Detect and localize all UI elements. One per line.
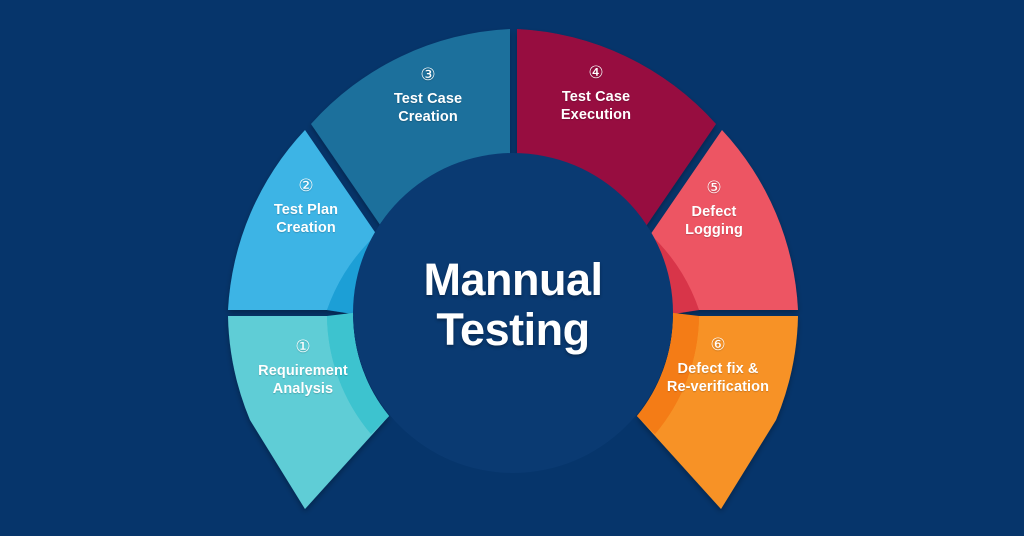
center-hub: [353, 153, 673, 473]
process-wheel-graphic: [0, 0, 1024, 536]
diagram-canvas: ① Requirement Analysis ② Test Plan Creat…: [0, 0, 1024, 536]
